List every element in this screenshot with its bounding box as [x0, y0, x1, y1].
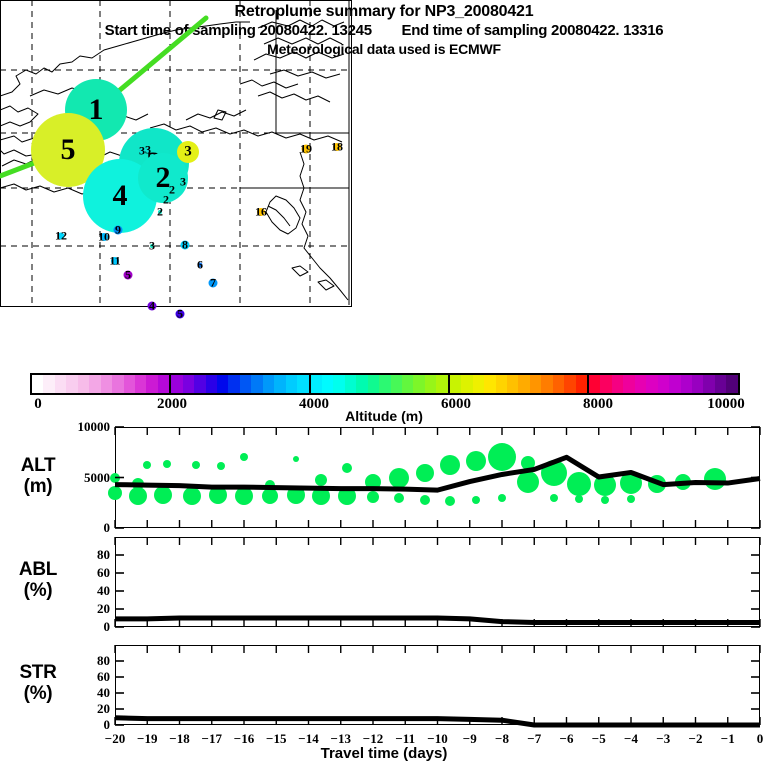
ytick-abl: 0: [52, 619, 110, 635]
colorbar-swatch: [530, 375, 541, 393]
map-marker: [164, 198, 168, 202]
alt-particle-dot: [287, 486, 305, 504]
alt-particle-dot: [394, 493, 404, 503]
colorbar-swatch: [194, 375, 205, 393]
colorbar-swatch: [43, 375, 54, 393]
colorbar-swatch: [658, 375, 669, 393]
colorbar-swatch: [635, 375, 646, 393]
alt-particle-dot: [108, 486, 122, 500]
colorbar-swatch: [158, 375, 169, 393]
alt-particle-dot: [217, 462, 225, 470]
colorbar-caption: Altitude (m): [0, 408, 768, 424]
colorbar-gradient: [30, 373, 740, 395]
map-marker: [111, 257, 119, 265]
colorbar-swatch: [669, 375, 680, 393]
alt-particle-dot: [620, 472, 642, 494]
map-marker: [139, 148, 145, 154]
colorbar-swatch: [66, 375, 77, 393]
colorbar-swatch: [692, 375, 703, 393]
xaxis-title: Travel time (days): [0, 745, 768, 762]
colorbar-swatch: [322, 375, 333, 393]
map-marker: [148, 302, 157, 308]
colorbar-swatch: [576, 375, 587, 393]
alt-particle-dot: [129, 487, 147, 505]
map-marker: [100, 233, 108, 241]
colorbar-swatch: [101, 375, 112, 393]
map-marker: [181, 180, 185, 184]
ytick-abl: 40: [52, 583, 110, 599]
colorbar-swatch: [612, 375, 623, 393]
colorbar-swatch: [461, 375, 472, 393]
alt-particle-dot: [367, 491, 379, 503]
colorbar-swatch: [646, 375, 657, 393]
colorbar-swatch: [425, 375, 436, 393]
alt-particle-dot: [517, 471, 539, 493]
alt-particle-dot: [466, 451, 486, 471]
alt-particle-dot: [235, 487, 253, 505]
alt-particle-dot: [440, 455, 460, 475]
alt-particle-dot: [675, 474, 691, 490]
ytick-str: 60: [52, 669, 110, 685]
colorbar-swatch: [379, 375, 390, 393]
alt-particle-dot: [488, 443, 516, 471]
colorbar-swatch: [623, 375, 634, 393]
colorbar-swatch: [703, 375, 714, 393]
ytick-str: 0: [52, 717, 110, 733]
alt-particle-dot: [594, 474, 616, 496]
colorbar-swatch: [217, 375, 228, 393]
alt-particle-dot: [567, 472, 591, 496]
alt-particle-dot: [110, 473, 120, 483]
colorbar-swatch: [564, 375, 575, 393]
colorbar-swatch: [496, 375, 507, 393]
colorbar-swatch: [183, 375, 194, 393]
alt-particle-dot: [541, 460, 567, 486]
colorbar-swatch: [169, 375, 182, 393]
colorbar-swatch: [89, 375, 100, 393]
map-marker: [302, 145, 311, 154]
colorbar-swatch: [726, 375, 737, 393]
colorbar-swatch: [124, 375, 135, 393]
alt-particle-dot: [521, 456, 535, 470]
map-marker: [198, 263, 203, 268]
alt-particle-dot: [262, 488, 278, 504]
colorbar-swatch: [484, 375, 495, 393]
ytick-alt: 0: [52, 520, 110, 536]
alt-particle-dot: [240, 453, 248, 461]
alt-particle-dot: [627, 495, 635, 503]
colorbar-swatch: [78, 375, 89, 393]
colorbar-swatch: [518, 375, 529, 393]
ytick-str: 80: [52, 653, 110, 669]
colorbar-swatch: [413, 375, 424, 393]
alt-particle-dot: [315, 474, 327, 486]
alt-particle-dot: [575, 495, 583, 503]
colorbar-swatch: [297, 375, 308, 393]
alt-particle-dot: [342, 463, 352, 473]
colorbar-swatch: [553, 375, 564, 393]
retroplume-map[interactable]: 15342333322219181612910381156745: [0, 0, 352, 307]
colorbar-swatch: [251, 375, 262, 393]
alt-particle-dot: [338, 487, 356, 505]
alt-particle-dot: [365, 474, 381, 490]
altitude-colorbar: [30, 373, 740, 395]
colorbar-swatch: [135, 375, 146, 393]
alt-particle-dot: [389, 468, 409, 488]
colorbar-swatch: [274, 375, 285, 393]
colorbar-swatch: [263, 375, 274, 393]
map-marker: [58, 233, 65, 240]
colorbar-swatch: [206, 375, 217, 393]
colorbar-swatch: [541, 375, 552, 393]
colorbar-swatch: [146, 375, 157, 393]
map-marker: [114, 226, 123, 235]
map-marker: [257, 208, 265, 216]
map-marker: [146, 148, 151, 153]
map-marker: [209, 279, 218, 288]
colorbar-swatch: [32, 375, 43, 393]
map-marker: [158, 210, 162, 214]
colorbar-swatch: [587, 375, 600, 393]
alt-particle-dot: [420, 495, 430, 505]
map-marker: [150, 244, 154, 248]
ytick-abl: 60: [52, 565, 110, 581]
colorbar-swatch: [600, 375, 611, 393]
alt-particle-dot: [416, 464, 434, 482]
colorbar-swatch: [402, 375, 413, 393]
colorbar-swatch: [356, 375, 367, 393]
colorbar-swatch: [228, 375, 239, 393]
colorbar-swatch: [286, 375, 297, 393]
colorbar-swatch: [345, 375, 356, 393]
colorbar-swatch: [448, 375, 461, 393]
ytick-alt: 5000: [52, 470, 110, 486]
colorbar-swatch: [715, 375, 726, 393]
ytick-abl: 80: [52, 547, 110, 563]
alt-particle-dot: [143, 461, 151, 469]
alt-particle-dot: [550, 494, 558, 502]
ytick-alt: 10000: [52, 419, 110, 435]
alt-particle-dot: [163, 460, 171, 468]
colorbar-swatch: [368, 375, 379, 393]
alt-particle-dot: [601, 496, 609, 504]
alt-particle-dot: [648, 475, 666, 493]
alt-particle-dot: [704, 468, 726, 490]
map-marker: [170, 188, 174, 192]
ytick-abl: 20: [52, 601, 110, 617]
alt-particle-dot: [209, 486, 227, 504]
ytick-str: 20: [52, 701, 110, 717]
map-marker: [333, 143, 341, 151]
colorbar-swatch: [681, 375, 692, 393]
colorbar-swatch: [436, 375, 447, 393]
colorbar-swatch: [333, 375, 344, 393]
colorbar-swatch: [473, 375, 484, 393]
map-marker: [177, 141, 199, 163]
panel-abl[interactable]: [115, 537, 760, 627]
map-marker: [181, 241, 190, 250]
ytick-str: 40: [52, 685, 110, 701]
alt-particle-dot: [183, 487, 201, 505]
alt-particle-dot: [472, 496, 480, 504]
alt-particle-dot: [312, 487, 330, 505]
alt-particle-dot: [154, 486, 172, 504]
map-marker: [124, 271, 133, 280]
alt-particle-dot: [445, 496, 455, 506]
alt-particle-dot: [192, 461, 200, 469]
colorbar-swatch: [391, 375, 402, 393]
colorbar-swatch: [55, 375, 66, 393]
panel-str[interactable]: [115, 645, 760, 725]
colorbar-swatch: [507, 375, 518, 393]
alt-particle-dot: [293, 456, 299, 462]
end-time-label: End time of sampling 20080422. 13316: [401, 22, 663, 39]
map-marker-label: 5: [177, 307, 183, 308]
colorbar-swatch: [112, 375, 123, 393]
alt-particle-dot: [498, 494, 506, 502]
colorbar-swatch: [240, 375, 251, 393]
colorbar-swatch: [309, 375, 322, 393]
